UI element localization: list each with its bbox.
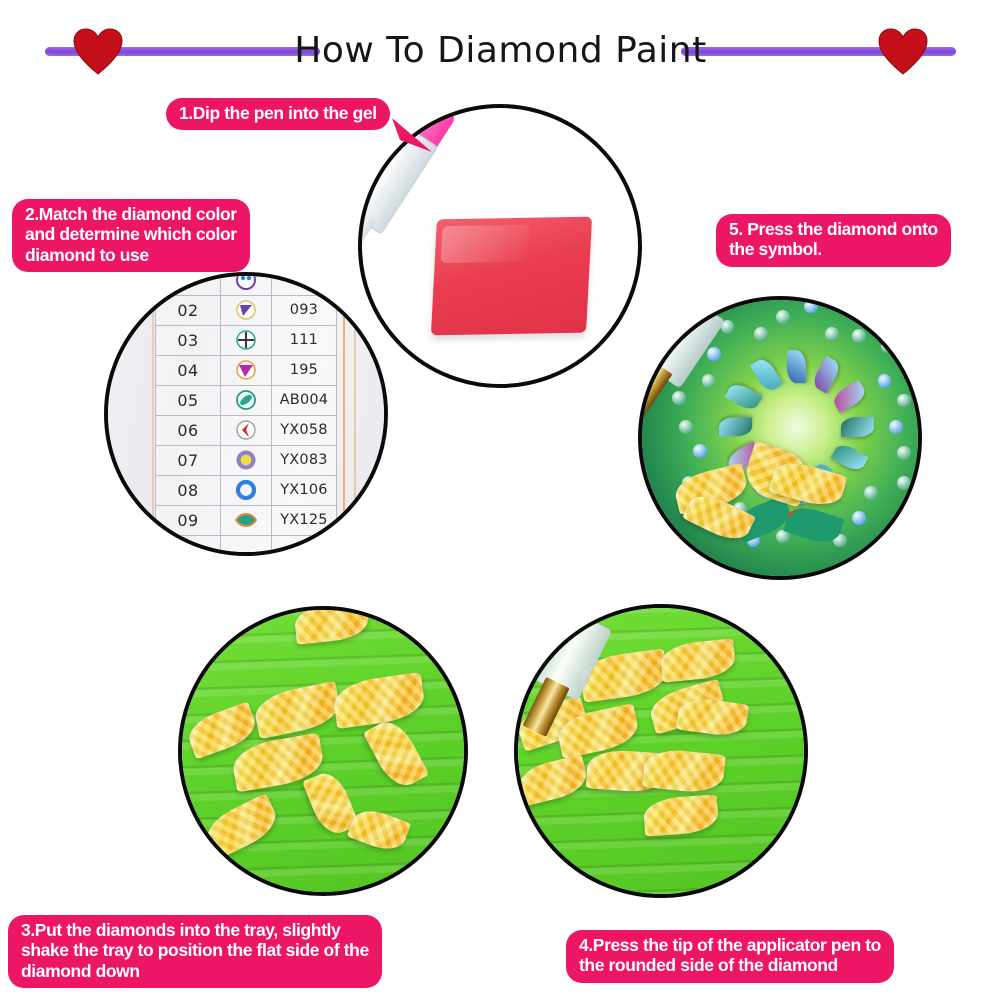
step-1-label: 1.Dip the pen into the gel — [166, 98, 390, 130]
gel-pad — [431, 217, 592, 336]
canvas-bead — [889, 420, 903, 434]
step-4-label-line-2: the rounded side of the diamond — [579, 955, 881, 975]
legend-number: 07 — [155, 445, 220, 475]
legend-code: 093 — [271, 295, 336, 325]
table-row: 06YX058 — [155, 415, 336, 445]
step-2-label: 2.Match the diamond color and determine … — [12, 199, 250, 272]
canvas-gem — [841, 417, 874, 436]
chart-margin-line — [152, 276, 154, 552]
canvas-bead — [679, 420, 693, 434]
diamond-gem — [200, 793, 283, 861]
legend-number: 03 — [155, 325, 220, 355]
color-legend-table: 02802093031110419505AB00406YX05807YX0830… — [155, 272, 337, 556]
legend-code: YX125 — [271, 505, 336, 535]
table-row: 028 — [155, 272, 336, 295]
purple-circle-icon — [221, 272, 272, 295]
canvas-bead — [881, 340, 895, 354]
diamond-group — [182, 610, 464, 892]
legend-number: 02 — [155, 295, 220, 325]
diamond-gem — [332, 672, 428, 729]
legend-number: 05 — [155, 385, 220, 415]
step-2-label-line-2: and determine which color — [25, 224, 237, 244]
header: How To Diamond Paint — [0, 14, 1001, 84]
diamond-gem — [676, 695, 749, 739]
canvas-bead — [776, 310, 790, 324]
step-2-label-line-3: diamond to use — [25, 245, 237, 265]
step-5-label: 5. Press the diamond onto the symbol. — [716, 214, 951, 267]
step-4-label-line-1: 4.Press the tip of the applicator pen to — [579, 935, 881, 955]
legend-code: AB004 — [271, 385, 336, 415]
diamond-gem — [347, 804, 412, 855]
teal-oval-icon — [221, 385, 272, 415]
magenta-triangle-icon — [221, 355, 272, 385]
canvas-gem — [830, 380, 868, 413]
canvas-bead — [878, 374, 892, 388]
step-1-callout-tail — [392, 118, 438, 158]
canvas-bead — [702, 374, 716, 388]
blue-ring-icon — [221, 475, 272, 505]
step-4-label: 4.Press the tip of the applicator pen to… — [566, 930, 894, 983]
legend-number: 08 — [155, 475, 220, 505]
canvas-bead — [693, 444, 707, 458]
legend-number: 04 — [155, 355, 220, 385]
canvas-bead — [897, 476, 911, 490]
canvas-bead — [754, 327, 768, 341]
infographic-canvas: How To Diamond Paint 1.Dip the pen into … — [0, 0, 1001, 1001]
step-3-label-line-2: shake the tray to position the flat side… — [21, 940, 369, 960]
table-row: 02093 — [155, 295, 336, 325]
canvas-bead — [852, 329, 866, 343]
red-arrow-icon — [221, 415, 272, 445]
purple-triangle-icon — [221, 295, 272, 325]
canvas-gem — [750, 355, 783, 393]
legend-code: 028 — [271, 272, 336, 295]
teal-leaf-icon — [221, 505, 272, 535]
step-3-photo — [178, 606, 468, 896]
page-title: How To Diamond Paint — [0, 30, 1001, 71]
table-row: 05AB004 — [155, 385, 336, 415]
step-1-label-line-1: 1.Dip the pen into the gel — [179, 103, 377, 123]
diamond-gem — [642, 747, 726, 795]
step-3-label-line-3: diamond down — [21, 961, 369, 981]
canvas-bead — [897, 394, 911, 408]
legend-number — [155, 272, 220, 295]
legend-code: 111 — [271, 325, 336, 355]
canvas-bead — [864, 486, 878, 500]
canvas-bead — [897, 446, 911, 460]
table-row — [155, 535, 336, 556]
diamond-gem — [293, 606, 370, 645]
diamond-gem — [363, 715, 430, 793]
canvas-bead — [852, 511, 866, 525]
table-row: 09YX125 — [155, 505, 336, 535]
table-row: 04195 — [155, 355, 336, 385]
canvas-gem — [725, 380, 763, 413]
diamond-gem — [643, 794, 720, 836]
yellow-dot-icon — [221, 445, 272, 475]
step-5-label-line-1: 5. Press the diamond onto — [729, 219, 938, 239]
canvas-gem — [719, 417, 752, 436]
legend-code: YX083 — [271, 445, 336, 475]
canvas-gem — [810, 355, 843, 393]
legend-code: YX106 — [271, 475, 336, 505]
step-3-label: 3.Put the diamonds into the tray, slight… — [8, 915, 382, 988]
canvas-gem — [830, 441, 868, 474]
chart-margin-line — [354, 276, 356, 552]
table-row: 08YX106 — [155, 475, 336, 505]
diamond-gem — [252, 681, 344, 740]
step-2-photo: 02802093031110419505AB00406YX05807YX0830… — [104, 272, 388, 556]
legend-number: 06 — [155, 415, 220, 445]
diamond-gem — [659, 639, 737, 684]
table-row: 07YX083 — [155, 445, 336, 475]
step-5-label-line-2: the symbol. — [729, 239, 938, 259]
canvas-gem — [787, 350, 806, 383]
canvas-bead — [825, 327, 839, 341]
chart-margin-line — [343, 276, 345, 552]
legend-code: 195 — [271, 355, 336, 385]
step-3-label-line-1: 3.Put the diamonds into the tray, slight… — [21, 920, 369, 940]
step-4-photo — [514, 604, 808, 898]
table-row: 03111 — [155, 325, 336, 355]
legend-number: 09 — [155, 505, 220, 535]
step-2-label-line-1: 2.Match the diamond color — [25, 204, 237, 224]
step-5-photo — [638, 296, 922, 580]
canvas-bead — [804, 300, 818, 314]
legend-code: YX058 — [271, 415, 336, 445]
pen-tip-gold — [522, 678, 569, 738]
plus-icon — [221, 325, 272, 355]
